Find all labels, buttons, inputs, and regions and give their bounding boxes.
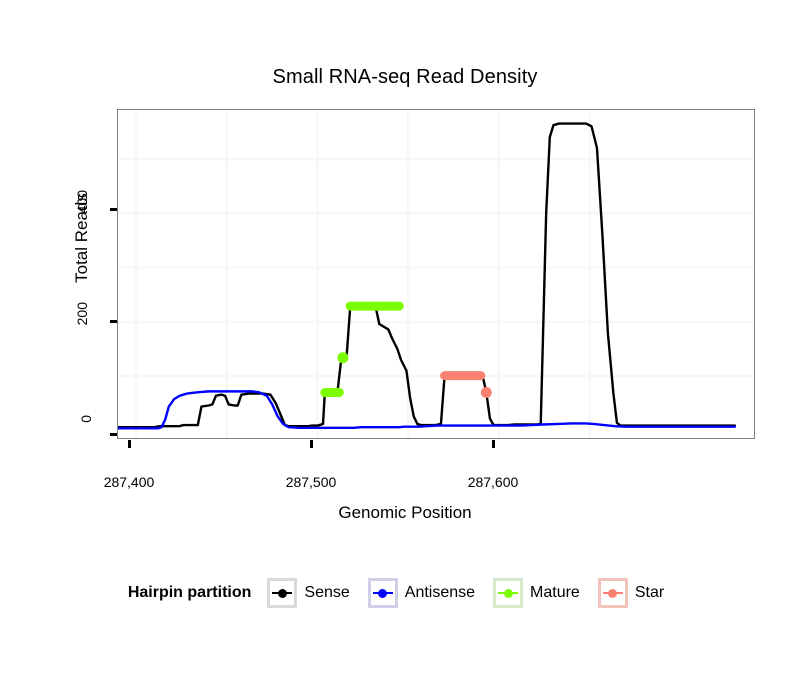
x-axis-title: Genomic Position <box>0 503 810 523</box>
y-tick-mark-0 <box>110 433 117 436</box>
y-tick-mark-400 <box>110 208 117 211</box>
x-tick-label-287400: 287,400 <box>84 474 174 490</box>
legend-key-star <box>598 578 628 608</box>
plot-panel <box>117 109 755 439</box>
legend-key-sense <box>267 578 297 608</box>
x-tick-mark-287400 <box>128 440 131 448</box>
legend-label-antisense: Antisense <box>405 584 475 602</box>
plot-svg <box>118 110 753 437</box>
x-tick-label-287600: 287,600 <box>448 474 538 490</box>
y-tick-label-200: 200 <box>74 302 90 342</box>
legend-dot-star <box>608 589 617 598</box>
legend-item-antisense[interactable]: Antisense <box>368 578 487 608</box>
legend-item-mature[interactable]: Mature <box>493 578 592 608</box>
y-tick-label-0: 0 <box>78 415 94 455</box>
y-tick-mark-200 <box>110 320 117 323</box>
legend-label-mature: Mature <box>530 584 580 602</box>
gridlines <box>118 110 753 437</box>
x-tick-label-287500: 287,500 <box>266 474 356 490</box>
legend: Hairpin partition Sense Antisense Mature <box>0 578 810 608</box>
legend-title: Hairpin partition <box>128 584 252 602</box>
chart-title: Small RNA-seq Read Density <box>0 66 810 89</box>
y-tick-label-400: 400 <box>74 190 90 230</box>
legend-dot-antisense <box>378 589 387 598</box>
legend-item-sense[interactable]: Sense <box>267 578 361 608</box>
y-axis-title: Total Reads <box>72 148 92 328</box>
x-tick-mark-287500 <box>310 440 313 448</box>
legend-label-star: Star <box>635 584 664 602</box>
legend-label-sense: Sense <box>304 584 349 602</box>
legend-key-mature <box>493 578 523 608</box>
data-series-layer <box>118 124 735 429</box>
x-tick-mark-287600 <box>492 440 495 448</box>
legend-item-star[interactable]: Star <box>598 578 676 608</box>
legend-dot-mature <box>504 589 513 598</box>
legend-key-antisense <box>368 578 398 608</box>
chart-root: Small RNA-seq Read Density Total Reads G… <box>0 0 810 690</box>
legend-dot-sense <box>278 589 287 598</box>
